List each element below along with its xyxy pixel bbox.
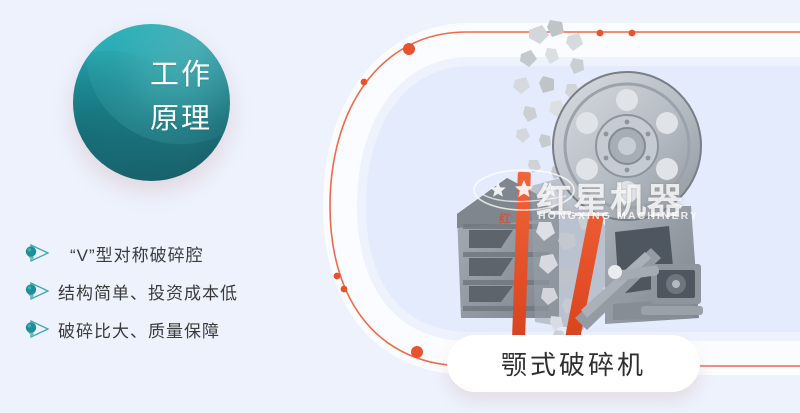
arrow-bullet-icon	[22, 319, 52, 339]
track-dot	[361, 79, 368, 86]
list-item: 结构简单、投资成本低	[22, 272, 292, 310]
list-item: “V”型对称破碎腔	[22, 234, 292, 272]
badge-line-1: 工作	[150, 53, 212, 97]
feature-label: “V”型对称破碎腔	[70, 241, 204, 266]
badge-text: 工作 原理	[150, 53, 212, 141]
arrow-bullet-icon	[22, 281, 52, 301]
machine-name-pill: 颚式破碎机	[447, 335, 700, 392]
machine-name-label: 颚式破碎机	[501, 345, 646, 382]
infographic-canvas: 工作 原理 “V”型对称破碎腔	[0, 0, 800, 413]
jaw-crusher-illustration	[455, 18, 715, 348]
feature-label: 结构简单、投资成本低	[58, 279, 238, 304]
feature-list: “V”型对称破碎腔 结构简单、投资成本低	[22, 234, 292, 348]
track-dot	[341, 286, 348, 293]
working-principle-badge: 工作 原理	[73, 24, 230, 181]
badge-line-2: 原理	[150, 97, 212, 141]
flywheel	[553, 72, 701, 220]
arrow-bullet-icon	[22, 243, 52, 263]
list-item: 破碎比大、质量保障	[22, 310, 292, 348]
track-dot	[403, 43, 415, 55]
track-dot	[411, 346, 423, 358]
track-dot	[334, 273, 341, 280]
feature-label: 破碎比大、质量保障	[58, 317, 220, 342]
